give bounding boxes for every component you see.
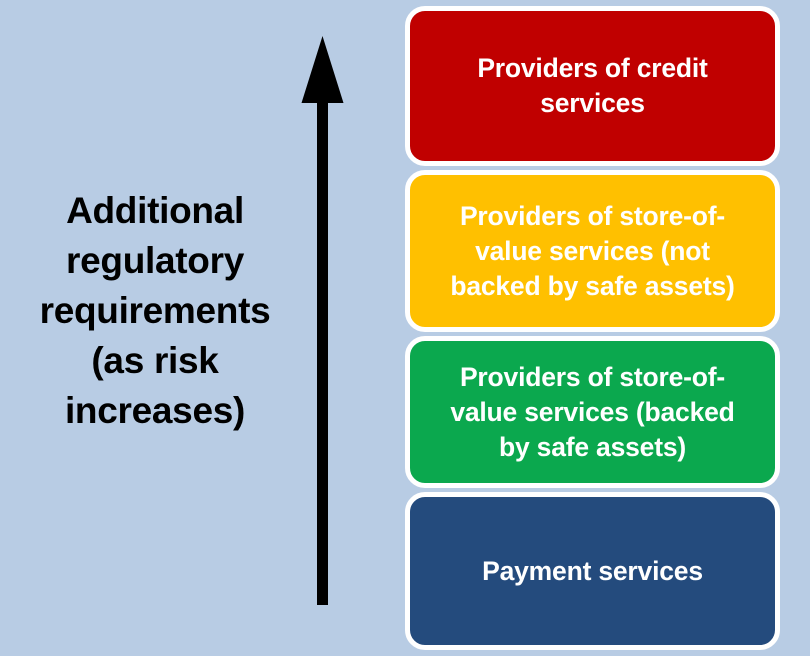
tier-box-store-of-value-unbacked[interactable]: Providers of store-of- value services (n… xyxy=(405,170,780,332)
tier-box-credit[interactable]: Providers of credit services xyxy=(405,6,780,166)
tier-box-store-of-value-backed[interactable]: Providers of store-of- value services (b… xyxy=(405,336,780,488)
tier-stack: Providers of credit services Providers o… xyxy=(400,0,785,656)
upward-arrow xyxy=(295,28,351,613)
axis-label-regulatory-requirements: Additional regulatory requirements (as r… xyxy=(10,186,300,436)
diagram-canvas: Additional regulatory requirements (as r… xyxy=(0,0,810,656)
upward-arrow-shape xyxy=(295,28,351,613)
tier-box-payment[interactable]: Payment services xyxy=(405,492,780,650)
